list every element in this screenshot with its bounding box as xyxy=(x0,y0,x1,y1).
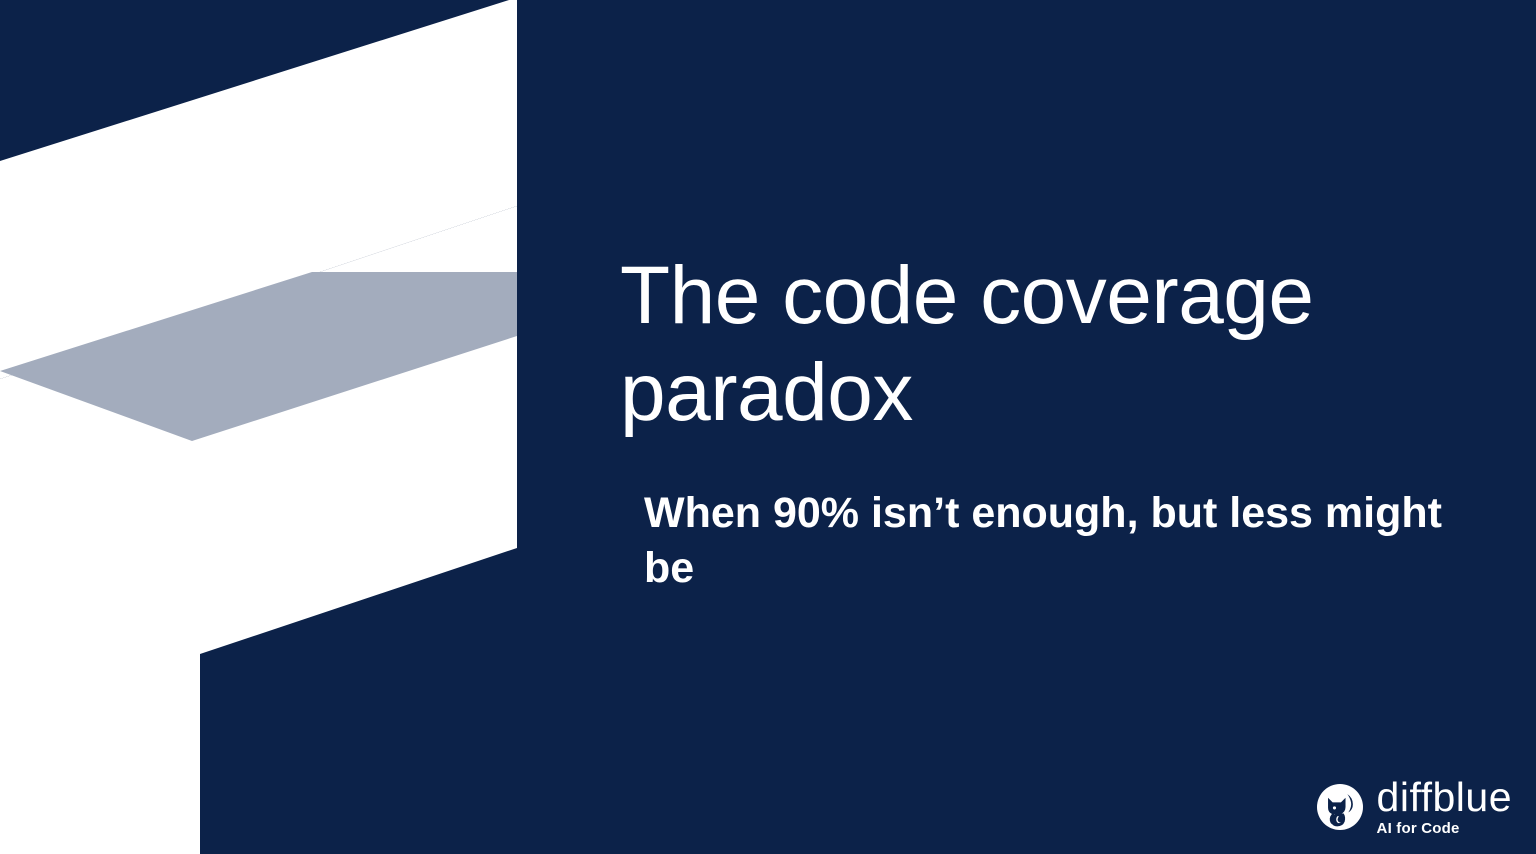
diffblue-cat-icon xyxy=(1317,784,1363,830)
slide-canvas: The code coverage paradox When 90% isn’t… xyxy=(0,0,1536,854)
brand-logo: diffblue AI for Code xyxy=(1317,777,1512,836)
logo-text-group: diffblue AI for Code xyxy=(1377,777,1512,836)
page-subtitle: When 90% isn’t enough, but less might be xyxy=(620,486,1480,596)
subtitle-wrap: When 90% isn’t enough, but less might be xyxy=(620,486,1480,596)
ribbon-decoration xyxy=(0,0,560,854)
ribbon-gray-overlay xyxy=(0,272,517,441)
ribbon-upper-band xyxy=(0,0,517,379)
logo-tagline: AI for Code xyxy=(1377,821,1460,836)
page-title: The code coverage paradox xyxy=(620,248,1480,442)
logo-wordmark: diffblue xyxy=(1377,777,1512,818)
text-block: The code coverage paradox When 90% isn’t… xyxy=(620,248,1480,596)
ribbon-lower-band xyxy=(0,206,517,854)
